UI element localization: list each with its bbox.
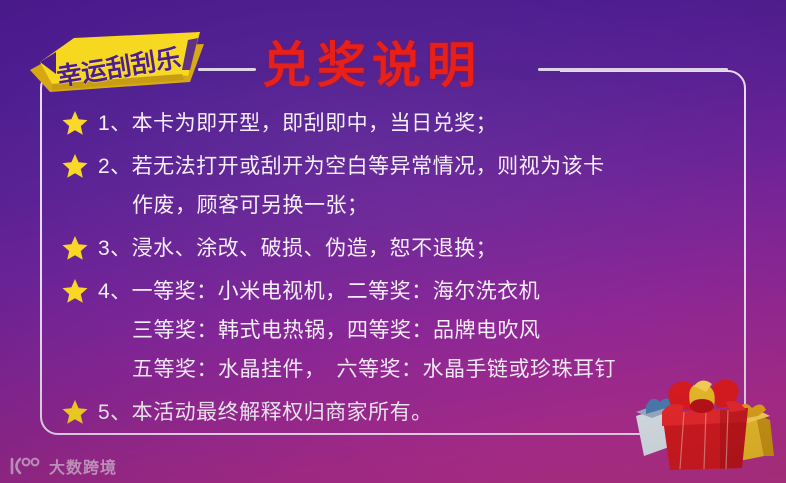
list-item-lines: 3、浸水、涂改、破损、伪造，恕不退换； <box>98 229 722 268</box>
star-icon <box>62 153 88 179</box>
star-icon <box>62 110 88 136</box>
list-item: 4、一等奖：小米电视机，二等奖：海尔洗衣机 三等奖：韩式电热锅，四等奖：品牌电吹… <box>62 272 722 389</box>
star-icon <box>62 399 88 425</box>
list-item: 3、浸水、涂改、破损、伪造，恕不退换； <box>62 229 722 268</box>
watermark: 大数跨境 <box>8 454 117 478</box>
lucky-scratch-banner: 幸运刮刮乐 <box>22 24 212 102</box>
page-title: 兑奖说明 <box>262 26 482 97</box>
rule-line: 1、本卡为即开型，即刮即中，当日兑奖； <box>98 104 722 143</box>
list-item-lines: 2、若无法打开或刮开为空白等异常情况，则视为该卡 作废，顾客可另换一张； <box>98 147 722 225</box>
poster-canvas: 幸运刮刮乐 兑奖说明 1、本卡为即开型，即刮即中，当日兑奖； 2、若无法打开或刮… <box>0 0 786 483</box>
rule-line: 2、若无法打开或刮开为空白等异常情况，则视为该卡 <box>98 147 722 186</box>
gift-box-red-icon <box>662 379 748 470</box>
list-item: 5、本活动最终解释权归商家所有。 <box>62 393 722 432</box>
list-item: 2、若无法打开或刮开为空白等异常情况，则视为该卡 作废，顾客可另换一张； <box>62 147 722 225</box>
star-icon <box>62 235 88 261</box>
rule-line: 三等奖：韩式电热锅，四等奖：品牌电吹风 <box>98 311 722 350</box>
dashukuajing-logo-icon <box>8 456 44 476</box>
star-icon <box>62 278 88 304</box>
rule-line: 3、浸水、涂改、破损、伪造，恕不退换； <box>98 229 722 268</box>
rules-list: 1、本卡为即开型，即刮即中，当日兑奖； 2、若无法打开或刮开为空白等异常情况，则… <box>62 104 722 436</box>
watermark-label: 大数跨境 <box>49 454 117 478</box>
rule-line: 4、一等奖：小米电视机，二等奖：海尔洗衣机 <box>98 272 722 311</box>
rule-line: 作废，顾客可另换一张； <box>98 186 722 225</box>
list-item-lines: 1、本卡为即开型，即刮即中，当日兑奖； <box>98 104 722 143</box>
list-item: 1、本卡为即开型，即刮即中，当日兑奖； <box>62 104 722 143</box>
gift-boxes-illustration <box>628 368 778 480</box>
divider-rule-right <box>538 68 728 71</box>
